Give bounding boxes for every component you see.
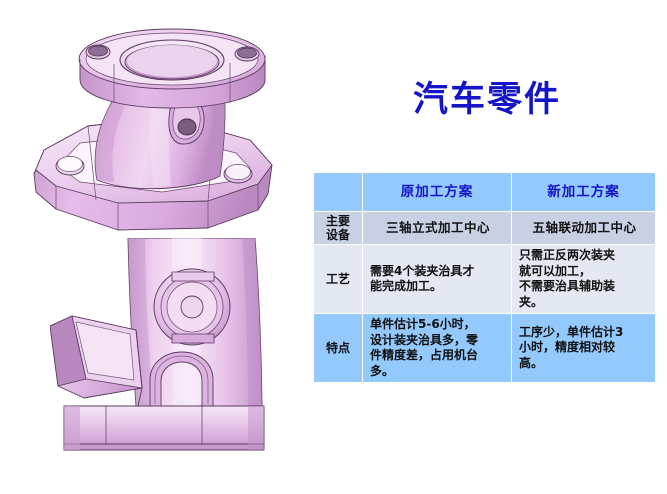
cad-part-side-icon bbox=[50, 238, 320, 492]
table-header-new-plan: 新加工方案 bbox=[512, 173, 656, 212]
cell-equipment-old: 三轴立式加工中心 bbox=[363, 212, 512, 245]
row-label-equipment: 主要 设备 bbox=[314, 212, 363, 245]
table-corner-cell bbox=[314, 173, 363, 212]
table-row: 特点 单件估计5-6小时， 设计装夹治具多，零 件精度差，占用机台 多。 工序少… bbox=[314, 314, 656, 383]
table-header-row: 原加工方案 新加工方案 bbox=[314, 173, 656, 212]
row-label-features: 特点 bbox=[314, 314, 363, 383]
row-label-process: 工艺 bbox=[314, 245, 363, 314]
table-row: 主要 设备 三轴立式加工中心 五轴联动加工中心 bbox=[314, 212, 656, 245]
page-title: 汽车零件 bbox=[352, 78, 622, 122]
cad-view-side bbox=[50, 238, 320, 492]
cad-part-isometric-icon bbox=[22, 4, 308, 236]
cell-process-old: 需要4个装夹治具才 能完成加工。 bbox=[363, 245, 512, 314]
table-header-old-plan: 原加工方案 bbox=[363, 173, 512, 212]
cad-view-isometric bbox=[22, 4, 308, 236]
cell-equipment-new: 五轴联动加工中心 bbox=[512, 212, 656, 245]
cell-features-old: 单件估计5-6小时， 设计装夹治具多，零 件精度差，占用机台 多。 bbox=[363, 314, 512, 383]
machining-comparison-table: 原加工方案 新加工方案 主要 设备 三轴立式加工中心 五轴联动加工中心 工艺 bbox=[313, 172, 656, 383]
cell-process-new: 只需正反两次装夹 就可以加工， 不需要治具辅助装 夹。 bbox=[512, 245, 656, 314]
cell-features-new: 工序少，单件估计3 小时，精度相对较 高。 bbox=[512, 314, 656, 383]
table-row: 工艺 需要4个装夹治具才 能完成加工。 只需正反两次装夹 就可以加工， 不需要治… bbox=[314, 245, 656, 314]
slide-canvas: 汽车零件 原加工方案 新加工方案 主要 设备 三轴立式加工中心 五轴联动加工中 bbox=[0, 0, 667, 494]
